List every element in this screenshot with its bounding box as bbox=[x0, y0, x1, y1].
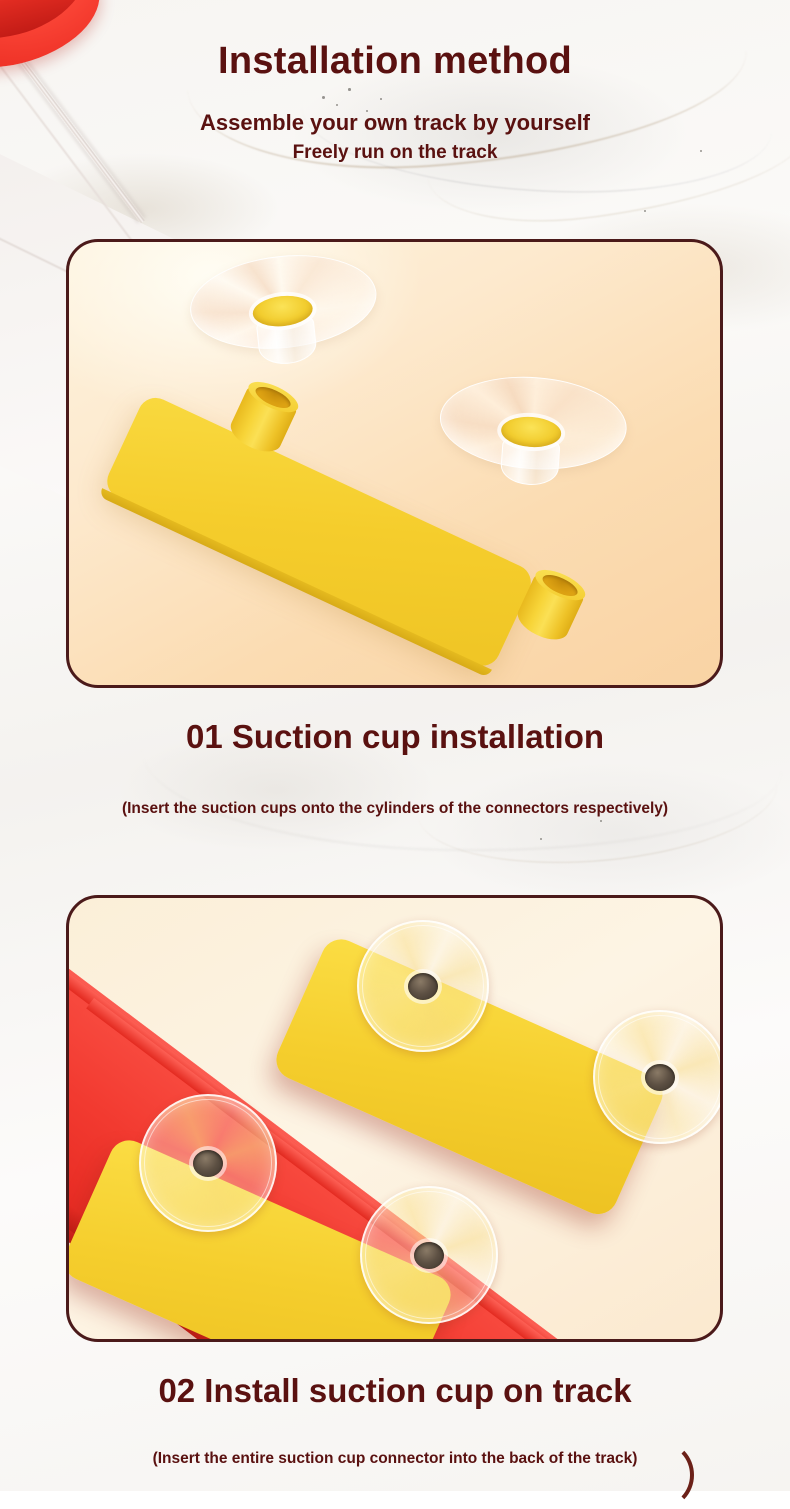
suction-cup-center-stud bbox=[414, 1242, 444, 1269]
connector-bar-edge bbox=[98, 488, 492, 678]
suction-cup bbox=[185, 247, 381, 381]
step-1-image-panel bbox=[66, 239, 723, 688]
marble-speck bbox=[540, 838, 542, 840]
marble-speck bbox=[600, 820, 602, 822]
page-title: Installation method bbox=[0, 0, 790, 83]
suction-cup bbox=[357, 920, 489, 1052]
suction-cup-center-stud bbox=[408, 973, 438, 1000]
header: Installation method Assemble your own tr… bbox=[0, 0, 790, 164]
suction-cup bbox=[435, 371, 628, 499]
suction-cup bbox=[139, 1094, 277, 1232]
suction-cup bbox=[593, 1010, 723, 1144]
suction-cup-center-stud bbox=[193, 1150, 223, 1177]
marble-speck bbox=[644, 210, 646, 212]
subtitle-primary: Assemble your own track by yourself bbox=[0, 83, 790, 136]
suction-cup bbox=[360, 1186, 498, 1324]
step-2-image-panel bbox=[66, 895, 723, 1342]
subtitle-secondary: Freely run on the track bbox=[0, 136, 790, 164]
step-1-title: 01 Suction cup installation bbox=[0, 718, 790, 756]
step-1-note: (Insert the suction cups onto the cylind… bbox=[0, 800, 790, 818]
step-2-title: 02 Install suction cup on track bbox=[0, 1372, 790, 1410]
suction-cup-center-stud bbox=[645, 1064, 675, 1091]
marble-vein bbox=[418, 784, 782, 876]
